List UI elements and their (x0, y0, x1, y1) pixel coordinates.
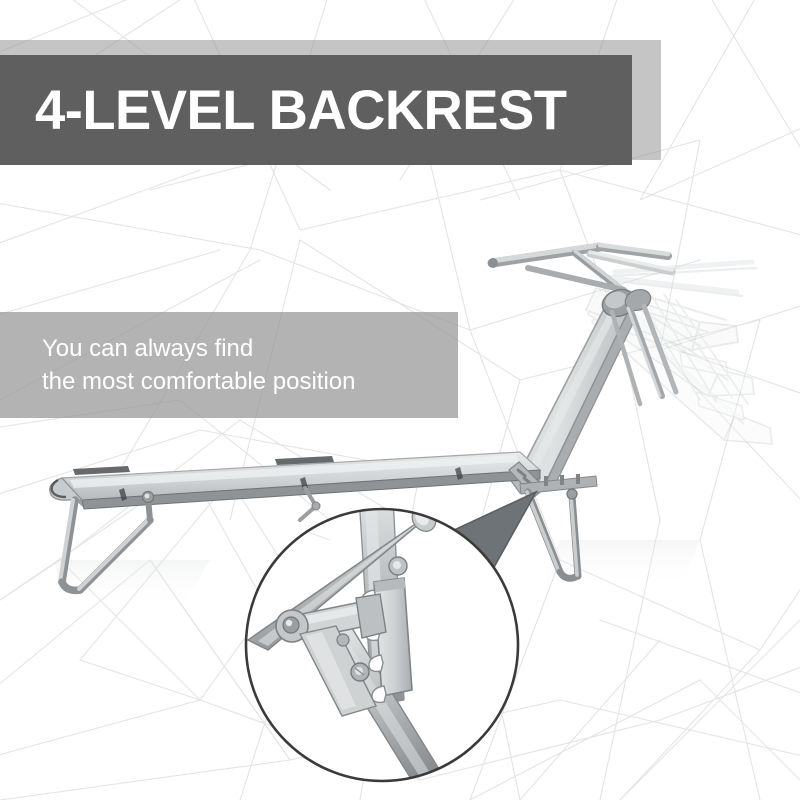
product-feature-image: 4-LEVEL BACKREST You can always find the… (0, 0, 800, 800)
detail-bolt-lower (337, 634, 349, 646)
callout-detail-circle (0, 0, 800, 800)
